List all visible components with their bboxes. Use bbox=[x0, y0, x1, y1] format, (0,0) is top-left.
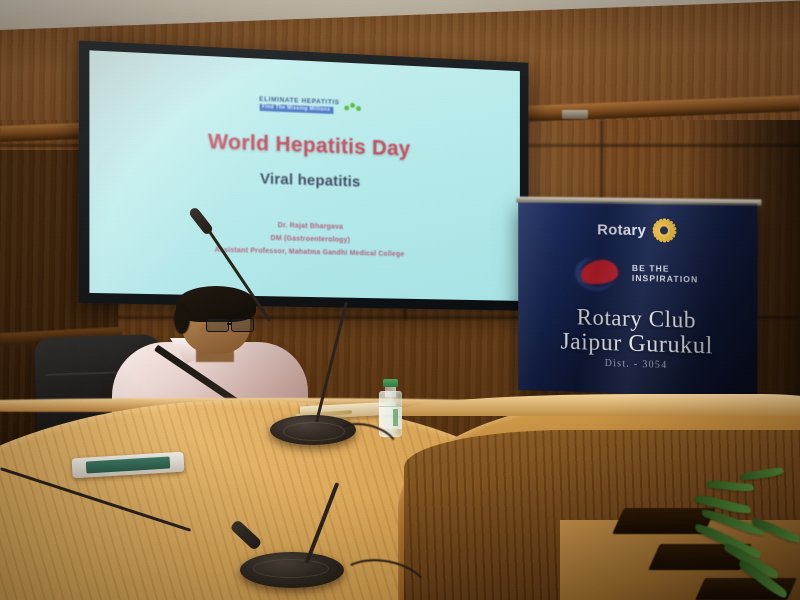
smartphone-screen bbox=[86, 456, 171, 473]
hair-side bbox=[174, 304, 190, 334]
banner-fabric-shading bbox=[518, 201, 757, 399]
projection-screen: ELIMINATE HEPATITIS Find The Missing Mil… bbox=[79, 41, 528, 311]
screen-glare bbox=[89, 50, 519, 301]
rotary-banner: Rotary BE THE INSPIRATION Rotary Club Ja… bbox=[518, 201, 757, 399]
eyeglasses-icon bbox=[206, 318, 258, 331]
potted-plant bbox=[690, 470, 800, 600]
conference-room-photo: ELIMINATE HEPATITIS Find The Missing Mil… bbox=[0, 0, 800, 600]
bottle-cap bbox=[383, 379, 398, 387]
bottle-label bbox=[379, 406, 402, 429]
projection-screen-surface: ELIMINATE HEPATITIS Find The Missing Mil… bbox=[89, 50, 519, 301]
wall-name-plate bbox=[562, 110, 588, 119]
